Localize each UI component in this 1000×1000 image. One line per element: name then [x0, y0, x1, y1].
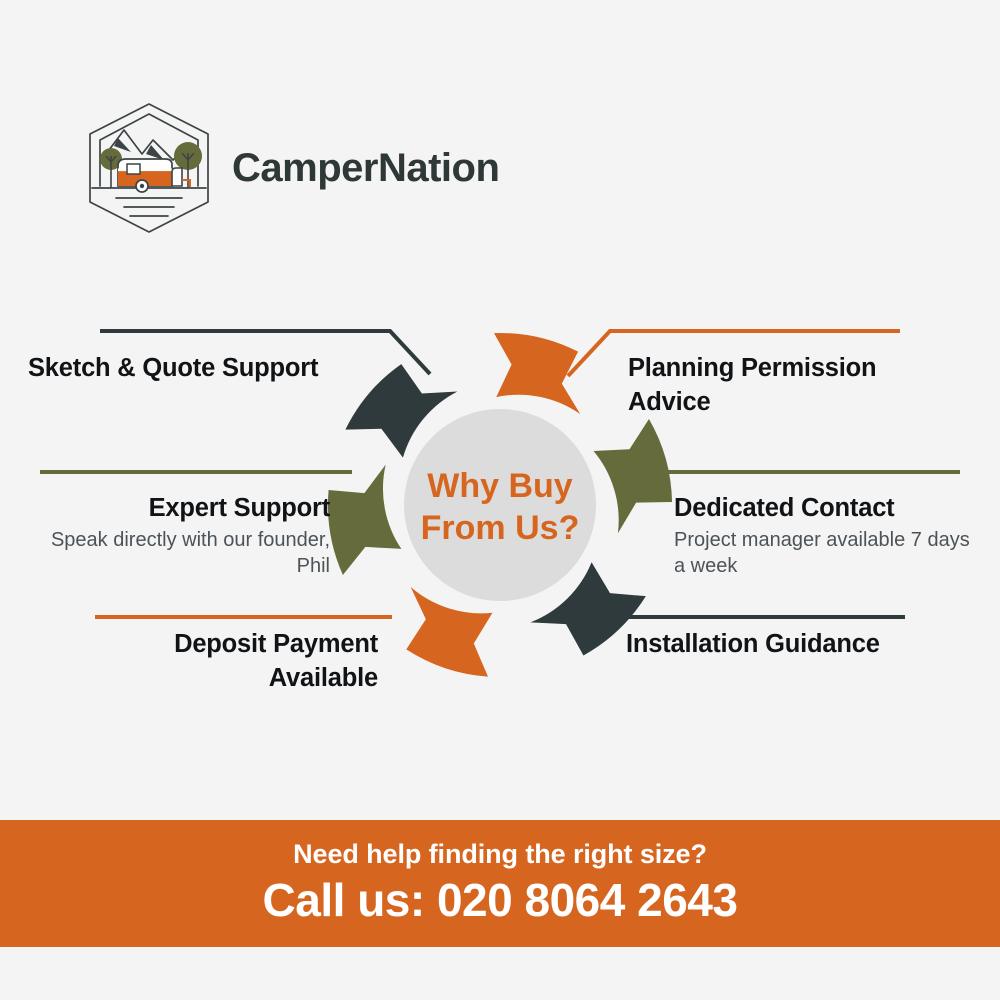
label-expert-subtitle: Speak directly with our founder, Phil: [38, 527, 330, 580]
wheel-center-line2: From Us?: [421, 509, 580, 547]
label-dedicated-subtitle: Project manager available 7 days a week: [674, 527, 974, 580]
banner-phone[interactable]: Call us: 020 8064 2643: [263, 874, 738, 927]
banner-question: Need help finding the right size?: [293, 840, 707, 870]
label-planning-title: Planning Permission Advice: [628, 352, 958, 419]
contact-banner: Need help finding the right size? Call u…: [0, 820, 1000, 947]
label-dedicated-contact[interactable]: Dedicated Contact Project manager availa…: [674, 492, 974, 579]
label-planning-permission-advice[interactable]: Planning Permission Advice: [628, 352, 958, 419]
label-expert-title: Expert Support: [38, 492, 330, 526]
label-dedicated-title: Dedicated Contact: [674, 492, 974, 526]
label-expert-support[interactable]: Expert Support Speak directly with our f…: [38, 492, 330, 579]
wheel-hub: [404, 409, 596, 601]
wheel-center-line1: Why Buy: [427, 467, 573, 505]
label-sketch-quote-support[interactable]: Sketch & Quote Support: [28, 352, 373, 386]
brand-name: CamperNation: [232, 146, 499, 191]
infographic-canvas: CamperNation: [0, 0, 1000, 1000]
label-install-title: Installation Guidance: [626, 628, 946, 662]
camper-van-mountain-badge-icon: [78, 98, 220, 238]
brand-logo: CamperNation: [78, 98, 498, 238]
label-deposit-payment-available[interactable]: Deposit Payment Available: [98, 628, 378, 695]
label-sketch-title: Sketch & Quote Support: [28, 352, 373, 386]
label-installation-guidance[interactable]: Installation Guidance: [626, 628, 946, 662]
label-deposit-title: Deposit Payment Available: [98, 628, 378, 695]
